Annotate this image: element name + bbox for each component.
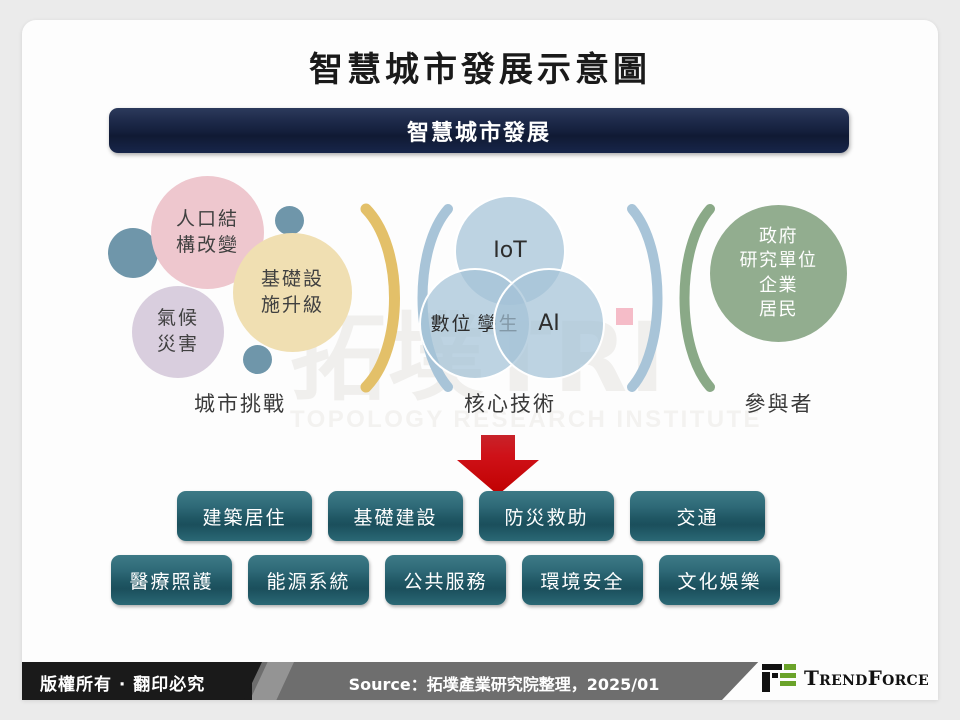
header-banner: 智慧城市發展 [109,108,849,153]
trendforce-logo[interactable]: TrendForce [762,664,929,692]
down-arrow-icon [454,435,542,497]
group-label-challenges: 城市挑戰 [140,388,340,418]
outcome-row-2: 醫療照護 能源系統 公共服務 環境安全 文化娛樂 [111,555,780,605]
blue-arc-right-icon [622,203,670,393]
outcome-box-public-service[interactable]: 公共服務 [385,555,506,605]
venn-dt-line-1: 數位 [430,313,472,335]
outcome-box-energy[interactable]: 能源系統 [248,555,369,605]
bubble-infra-line-2: 施升級 [261,293,324,319]
venn-circle-ai[interactable]: AI [493,268,605,380]
trendforce-wordmark: TrendForce [804,666,929,690]
bubble-climate-line-1: 氣候 [157,306,199,332]
pink-square-accent [616,308,633,325]
slide-canvas: 拓墣TRI TOPOLOGY RESEARCH INSTITUTE 智慧城市發展… [22,20,938,700]
group-label-participants: 參與者 [679,388,879,418]
bubble-population-line-2: 構改變 [176,233,239,259]
source-note: Source：拓墣產業研究院整理，2025/01 [294,671,714,695]
footer-bar: 版權所有 · 翻印必究 Source：拓墣產業研究院整理，2025/01 Tre… [22,656,938,700]
trendforce-mark-icon [762,664,796,692]
bubble-population-line-1: 人口結 [176,207,239,233]
outcome-box-infrastructure[interactable]: 基礎建設 [328,491,463,541]
bubble-participants[interactable]: 政府 研究單位 企業 居民 [710,205,847,342]
group-label-technologies: 核心技術 [410,388,610,418]
page-title: 智慧城市發展示意圖 [22,42,938,91]
outcome-box-building[interactable]: 建築居住 [177,491,312,541]
participants-line-3: 企業 [759,274,798,298]
outcome-box-environment-safety[interactable]: 環境安全 [522,555,643,605]
header-banner-label: 智慧城市發展 [407,115,551,147]
bubble-infrastructure-upgrade[interactable]: 基礎設 施升級 [233,233,352,352]
gold-arc-icon [352,203,412,393]
outcome-box-healthcare[interactable]: 醫療照護 [111,555,232,605]
participants-line-1: 政府 [759,225,798,249]
bubble-climate-disaster[interactable]: 氣候 災害 [132,286,224,378]
green-arc-icon [672,203,720,393]
accent-dot-small-bottom [243,345,272,374]
outcome-row-1: 建築居住 基礎建設 防災救助 交通 [177,491,765,541]
outcome-box-transport[interactable]: 交通 [630,491,765,541]
participants-line-2: 研究單位 [740,249,818,273]
venn-iot-label: IoT [493,237,526,266]
copyright-notice: 版權所有 · 翻印必究 [40,670,205,695]
outcome-box-culture-entertainment[interactable]: 文化娛樂 [659,555,780,605]
venn-ai-label: AI [538,310,560,339]
accent-dot-small-top [275,206,304,235]
participants-line-4: 居民 [759,298,798,322]
bubble-climate-line-2: 災害 [157,332,199,358]
bubble-infra-line-1: 基礎設 [261,267,324,293]
outcome-box-disaster-relief[interactable]: 防災救助 [479,491,614,541]
